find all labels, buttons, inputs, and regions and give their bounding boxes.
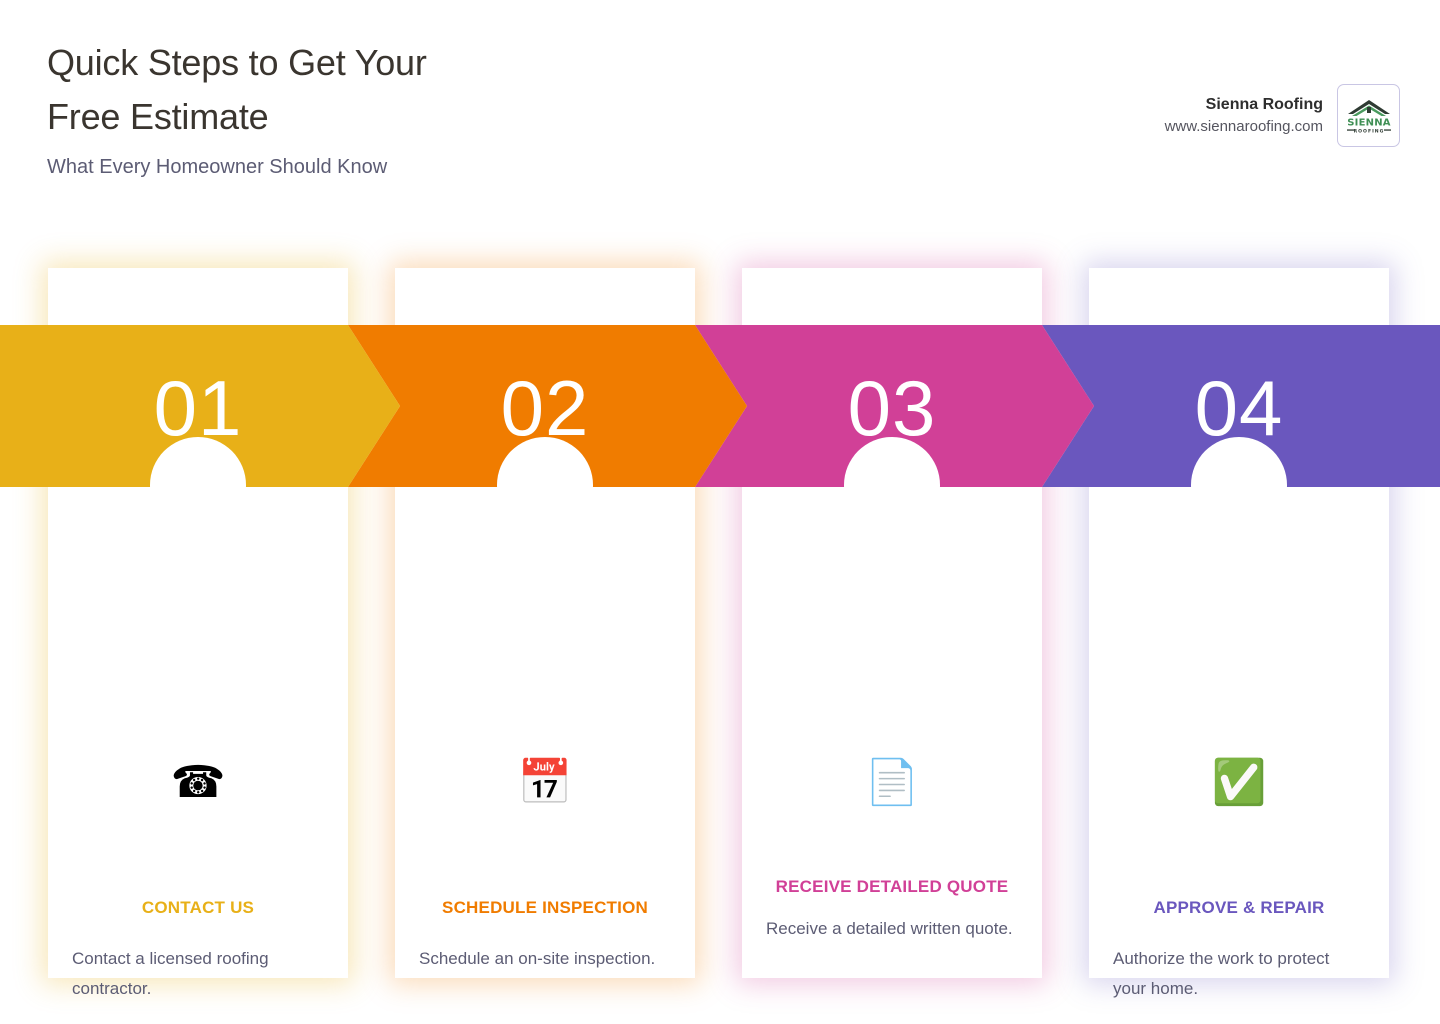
chevron-segment-2: 02	[348, 325, 748, 487]
steps-container: ☎ CONTACT US Contact a licensed roofing …	[0, 0, 1440, 1024]
chevron-segment-1: 01	[0, 325, 400, 487]
step-card-content: ✅ APPROVE & REPAIR Authorize the work to…	[1089, 755, 1389, 1004]
step-title: SCHEDULE INSPECTION	[395, 893, 695, 922]
step-description: Authorize the work to protect your home.	[1089, 944, 1389, 1004]
spiral-calendar-icon: 📅	[395, 755, 695, 821]
page-document-icon: 📄	[742, 755, 1042, 821]
check-mark-button-icon: ✅	[1089, 755, 1389, 821]
chevron-segment-3: 03	[695, 325, 1095, 487]
step-description: Contact a licensed roofing contractor.	[48, 944, 348, 1004]
chevron-segment-4: 04	[1042, 325, 1440, 487]
infographic-page: Quick Steps to Get Your Free Estimate Wh…	[0, 0, 1440, 1024]
step-card-content: 📄 RECEIVE DETAILED QUOTE Receive a detai…	[742, 755, 1042, 944]
steps-chevron-banner: 01 02 03 04	[0, 325, 1440, 487]
step-title: RECEIVE DETAILED QUOTE	[742, 872, 1042, 901]
step-card-content: ☎ CONTACT US Contact a licensed roofing …	[48, 755, 348, 1004]
step-description: Receive a detailed written quote.	[742, 914, 1042, 944]
step-title: CONTACT US	[48, 893, 348, 922]
step-card-content: 📅 SCHEDULE INSPECTION Schedule an on-sit…	[395, 755, 695, 974]
step-description: Schedule an on-site inspection.	[395, 944, 695, 974]
step-title: APPROVE & REPAIR	[1089, 893, 1389, 922]
telephone-receiver-icon: ☎	[48, 755, 348, 821]
